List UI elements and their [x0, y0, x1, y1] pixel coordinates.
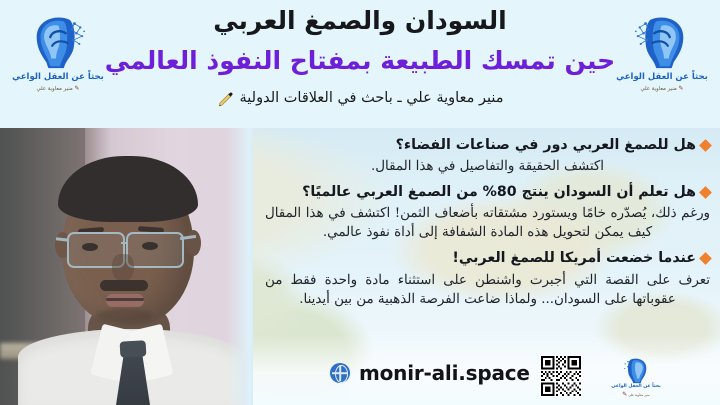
bullet-question-row: هل تعلم أن السودان ينتج 80% من الصمغ الع…: [265, 183, 710, 202]
footer-brand-logo: بحثاً عن العقل الواعي ✎ منير معاوية علي: [605, 355, 667, 399]
bullet-question: عندما خضعت أمريكا للصمغ العربي!: [452, 249, 696, 268]
website-link[interactable]: monir-ali.space: [330, 361, 530, 385]
website-url: monir-ali.space: [359, 361, 530, 385]
quill-pen-icon: [217, 91, 234, 108]
quill-pen-icon: ✎: [622, 391, 627, 398]
bullet-item: هل تعلم أن السودان ينتج 80% من الصمغ الع…: [265, 183, 710, 242]
qr-code[interactable]: [540, 355, 582, 397]
bullet-item: هل للصمغ العربي دور في صناعات الفضاء؟ اك…: [265, 136, 710, 176]
diamond-bullet-icon: [699, 186, 712, 199]
poster-body: هل للصمغ العربي دور في صناعات الفضاء؟ اك…: [0, 128, 720, 405]
globe-icon: [330, 363, 350, 383]
logo-caption: بحثاً عن العقل الواعي: [611, 385, 661, 390]
bullet-question: هل تعلم أن السودان ينتج 80% من الصمغ الع…: [302, 183, 696, 202]
author-portrait: [0, 128, 253, 405]
conscious-mind-head-icon: [621, 355, 651, 385]
poster-header: بحثاً عن العقل الواعي ✎ منير معاوية علي: [0, 0, 720, 128]
poster-root: بحثاً عن العقل الواعي ✎ منير معاوية علي: [0, 0, 720, 405]
portrait-color-wash: [0, 128, 253, 405]
bullet-question-row: هل للصمغ العربي دور في صناعات الفضاء؟: [265, 136, 710, 155]
bullet-item: عندما خضعت أمريكا للصمغ العربي! تعرف على…: [265, 249, 710, 308]
bullet-question-row: عندما خضعت أمريكا للصمغ العربي!: [265, 249, 710, 268]
bullet-answer: ورغم ذلك، يُصدّره خامًا ويستورد مشتقاته …: [265, 204, 710, 242]
logo-author: ✎ منير معاوية علي: [622, 391, 649, 398]
author-byline: منير معاوية علي ـ باحث في العلاقات الدول…: [0, 90, 720, 107]
bullet-answer: اكتشف الحقيقة والتفاصيل في هذا المقال.: [265, 157, 710, 176]
poster-subtitle: حين تمسك الطبيعة بمفتاح النفوذ العالمي: [0, 46, 720, 76]
byline-text: منير معاوية علي ـ باحث في العلاقات الدول…: [240, 90, 504, 107]
bullet-question: هل للصمغ العربي دور في صناعات الفضاء؟: [396, 136, 696, 155]
bullet-answer: تعرف على القصة التي أجبرت واشنطن على است…: [265, 271, 710, 309]
portrait-edge-fade: [227, 128, 253, 405]
poster-footer: monir-ali.space: [255, 355, 720, 399]
diamond-bullet-icon: [699, 139, 712, 152]
diamond-bullet-icon: [699, 253, 712, 266]
poster-title: السودان والصمغ العربي: [0, 6, 720, 36]
